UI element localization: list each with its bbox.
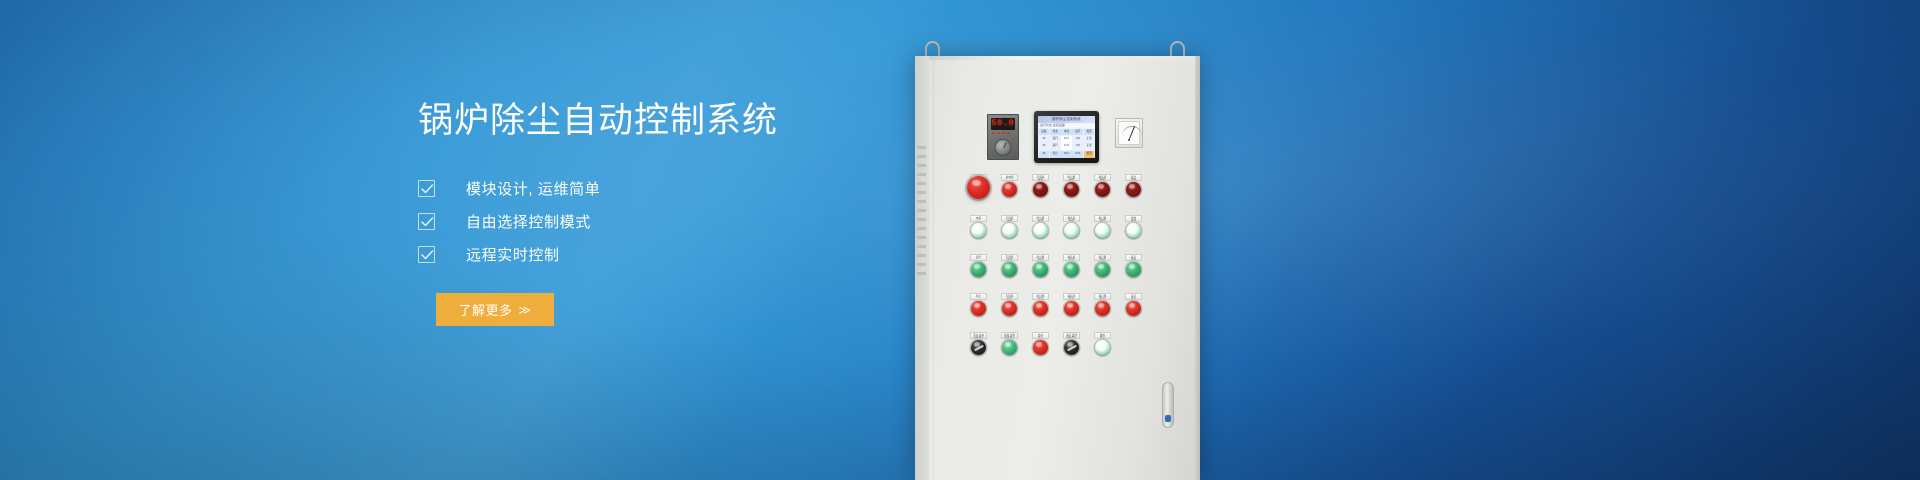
indicator-lamp-icon[interactable] (1033, 340, 1048, 355)
run-indicator[interactable]: 引风机 运行 (994, 254, 1025, 277)
list-item: 自由选择控制模式 (418, 205, 888, 238)
checkbox-checked-icon (418, 180, 435, 197)
button-label-plate: 手动 自动 转换开关 (970, 332, 987, 339)
power-indicator[interactable]: 振打器 电源 (1087, 215, 1118, 238)
fault-indicator: 引风机 故障 (1025, 174, 1056, 199)
run-indicator[interactable]: 清灰 运行 (1118, 254, 1149, 277)
cabinet-right-edge (1195, 56, 1200, 480)
feature-label: 远程实时控制 (466, 244, 560, 265)
button-label-plate: 启动 开关 (1032, 332, 1049, 339)
indicator-lamp-icon[interactable] (971, 223, 986, 238)
indicator-lamp-icon (1126, 182, 1141, 197)
checkbox-checked-icon (418, 213, 435, 230)
button-label-plate: 输灰机 运行 (1063, 254, 1080, 261)
table-cell: ON (1072, 136, 1083, 143)
vfd-drive-unit[interactable]: 50.0 (987, 114, 1019, 160)
button-label-plate: 振打器 停止 (1094, 293, 1111, 300)
button-grid: 急停 总电源 引风机 故障 除尘器 故障 (961, 174, 1193, 371)
rotary-selector-icon[interactable] (971, 340, 986, 355)
button-label-plate: 振打器 电源 (1094, 215, 1111, 222)
button-label-plate: 振打器 运行 (1094, 254, 1111, 261)
selector-switch[interactable]: 就地 远程 转换开关 (994, 332, 1025, 355)
button-label-plate: 输灰机 故障 (1094, 174, 1111, 181)
table-cell: 报警 (1084, 151, 1095, 158)
table-row: 1# 运行 12.4 ON 正常 (1039, 136, 1095, 143)
checkbox-checked-icon (418, 246, 435, 263)
indicator-lamp-icon (1095, 182, 1110, 197)
stop-button[interactable]: 振打器 停止 (1087, 293, 1118, 316)
main-power-button[interactable]: 总电源 (994, 174, 1025, 199)
indicator-lamp-icon[interactable] (1064, 301, 1079, 316)
table-row: 设备 状态 电流 运行 报警 (1039, 129, 1095, 136)
rotary-selector-icon[interactable] (1064, 340, 1079, 355)
emergency-stop-button[interactable]: 急停 (963, 174, 994, 199)
button-label-plate: 引风机 运行 (1001, 254, 1018, 261)
feature-label: 模块设计, 运维简单 (466, 178, 600, 199)
run-indicator[interactable]: 除尘器 运行 (1025, 254, 1056, 277)
estop-mushroom-icon[interactable] (967, 176, 990, 199)
list-item: 远程实时控制 (418, 238, 888, 271)
button-label-plate: 引风机 故障 (1032, 174, 1049, 181)
meter-face (1118, 121, 1140, 145)
feature-label: 自由选择控制模式 (466, 211, 591, 232)
banner-copy: 锅炉除尘自动控制系统 模块设计, 运维简单 自由选择控制模式 (418, 100, 888, 326)
fault-indicator: 除尘器 故障 (1056, 174, 1087, 199)
stop-button[interactable]: 清灰 停止 (1118, 293, 1149, 316)
power-indicator[interactable]: 电源 (963, 215, 994, 238)
stop-button[interactable]: 输灰机 停止 (1056, 293, 1087, 316)
hmi-touchscreen[interactable]: 锅炉除尘控制系统 运行状态 监控画面 设备 状态 电流 运行 报警 1# 运行 (1034, 111, 1099, 163)
power-indicator[interactable]: 控制 电源 (1118, 215, 1149, 238)
meter-pivot (1128, 139, 1130, 141)
power-indicator[interactable]: 输灰机 电源 (1056, 215, 1087, 238)
button-label-plate: 就地 远程 转换开关 (1001, 332, 1018, 339)
table-cell: 报警 (1084, 129, 1095, 136)
cabinet-top-edge (915, 56, 1200, 60)
selector-switch[interactable]: 备用 开关 (1087, 332, 1118, 355)
cabinet-door-handle[interactable] (1162, 382, 1174, 428)
indicator-lamp-icon[interactable] (1126, 301, 1141, 316)
indicator-lamp-icon[interactable] (1033, 301, 1048, 316)
indicator-lamp-icon[interactable] (1095, 301, 1110, 316)
table-cell: 1# (1039, 136, 1050, 143)
stop-button[interactable]: 引风机 停止 (994, 293, 1025, 316)
button-label-plate: 输灰机 停止 (1063, 293, 1080, 300)
table-cell: 2# (1039, 143, 1050, 150)
indicator-lamp-icon[interactable] (1002, 223, 1017, 238)
vfd-status-leds-icon (991, 132, 1015, 134)
indicator-lamp-icon[interactable] (1033, 262, 1048, 277)
stop-button[interactable]: 除尘器 停止 (1025, 293, 1056, 316)
table-cell: 12.4 (1061, 136, 1072, 143)
vfd-knob[interactable] (995, 139, 1012, 156)
button-label-plate: 总电源 (1001, 174, 1018, 181)
button-label-plate: 清灰 停止 (1125, 293, 1142, 300)
ventilation-slots-icon (917, 146, 926, 276)
indicator-lamp-icon[interactable] (1064, 223, 1079, 238)
indicator-lamp-icon[interactable] (1033, 223, 1048, 238)
indicator-lamp-icon[interactable] (1095, 262, 1110, 277)
table-cell: ON (1072, 143, 1083, 150)
button-label-plate: 除尘器 停止 (1032, 293, 1049, 300)
button-label-plate: 引风机 停止 (1001, 293, 1018, 300)
selector-switch[interactable]: 清灰 连续 转换开关 (1056, 332, 1087, 355)
table-row: 3# 停止 00.0 OFF 报警 (1039, 151, 1095, 158)
table-cell: 设备 (1039, 129, 1050, 136)
button-label-plate: 电源 (970, 215, 987, 222)
power-indicator[interactable]: 引风机 电源 (994, 215, 1025, 238)
indicator-lamp-icon[interactable] (971, 301, 986, 316)
button-label-plate: 除尘器 故障 (1063, 174, 1080, 181)
run-indicator[interactable]: 输灰机 运行 (1056, 254, 1087, 277)
button-label-plate: 除尘器 运行 (1032, 254, 1049, 261)
table-cell: 运行 (1050, 136, 1061, 143)
stop-button[interactable]: 停止 (963, 293, 994, 316)
indicator-lamp-icon[interactable] (1064, 262, 1079, 277)
emergency-and-alarm-row: 急停 总电源 引风机 故障 除尘器 故障 (961, 174, 1193, 199)
run-indicator-row: 运行 引风机 运行 除尘器 运行 输灰机 运行 (961, 254, 1193, 277)
page-title: 锅炉除尘自动控制系统 (418, 100, 888, 142)
vfd-digits: 50.0 (991, 120, 1014, 128)
indicator-lamp-icon[interactable] (1002, 182, 1017, 197)
chevron-right-icon: ≫ (518, 303, 531, 317)
table-cell: OFF (1072, 151, 1083, 158)
indicator-lamp-icon (1064, 182, 1079, 197)
table-cell: 运行 (1050, 143, 1061, 150)
hmi-title: 锅炉除尘控制系统 (1038, 116, 1095, 123)
hmi-screen: 锅炉除尘控制系统 运行状态 监控画面 设备 状态 电流 运行 报警 1# 运行 (1038, 116, 1095, 158)
selector-switch-row: 手动 自动 转换开关 就地 远程 转换开关 启动 开关 清灰 连续 转换开关 (961, 332, 1193, 355)
learn-more-button[interactable]: 了解更多 ≫ (436, 293, 554, 326)
button-label-plate: 清灰 连续 转换开关 (1063, 332, 1080, 339)
button-label-plate: 控制 电源 (1125, 215, 1142, 222)
selector-switch[interactable]: 启动 开关 (1025, 332, 1056, 355)
table-cell: 11.8 (1061, 143, 1072, 150)
table-cell: 正常 (1084, 143, 1095, 150)
run-indicator[interactable]: 运行 (963, 254, 994, 277)
table-cell: 运行 (1072, 129, 1083, 136)
selector-switch[interactable]: 手动 自动 转换开关 (963, 332, 994, 355)
indicator-lamp-icon[interactable] (1126, 262, 1141, 277)
cabinet-door-seam (933, 60, 934, 480)
indicator-lamp-icon[interactable] (1095, 340, 1110, 355)
button-label-plate: 输灰机 电源 (1063, 215, 1080, 222)
run-indicator[interactable]: 振打器 运行 (1087, 254, 1118, 277)
table-cell: 00.0 (1061, 151, 1072, 158)
button-label-plate: 停止 (970, 293, 987, 300)
button-label-plate: 运行 (970, 254, 987, 261)
power-indicator-row: 电源 引风机 电源 除尘器 电源 输灰机 电源 (961, 215, 1193, 238)
indicator-lamp-icon[interactable] (971, 262, 986, 277)
button-label-plate: 综合 报警 (1125, 174, 1142, 181)
table-cell: 状态 (1050, 129, 1061, 136)
indicator-lamp-icon[interactable] (1126, 223, 1141, 238)
fault-indicator: 综合 报警 (1118, 174, 1149, 199)
table-cell: 3# (1039, 151, 1050, 158)
learn-more-label: 了解更多 (458, 300, 512, 319)
list-item: 模块设计, 运维简单 (418, 172, 888, 205)
table-row: 2# 运行 11.8 ON 正常 (1039, 143, 1095, 150)
feature-list: 模块设计, 运维简单 自由选择控制模式 远程实时控制 (418, 172, 888, 271)
cabinet-body: 50.0 锅炉除尘控制系统 运行状态 监控画面 设备 状态 电流 (915, 56, 1200, 480)
table-cell: 正常 (1084, 136, 1095, 143)
button-label-plate: 除尘器 电源 (1032, 215, 1049, 222)
indicator-lamp-icon[interactable] (1095, 223, 1110, 238)
hero-banner: 锅炉除尘自动控制系统 模块设计, 运维简单 自由选择控制模式 (0, 0, 1920, 480)
table-cell: 电流 (1061, 129, 1072, 136)
fault-indicator: 输灰机 故障 (1087, 174, 1118, 199)
indicator-lamp-icon (1033, 182, 1048, 197)
table-cell: 停止 (1050, 151, 1061, 158)
indicator-lamp-icon[interactable] (1002, 301, 1017, 316)
button-label-plate: 备用 开关 (1094, 332, 1111, 339)
hmi-data-table: 设备 状态 电流 运行 报警 1# 运行 12.4 ON 正常 (1038, 128, 1095, 158)
indicator-lamp-icon[interactable] (1002, 262, 1017, 277)
analog-ammeter (1115, 118, 1143, 148)
vfd-display: 50.0 (991, 118, 1015, 130)
stop-button-row: 停止 引风机 停止 除尘器 停止 输灰机 停止 (961, 293, 1193, 316)
indicator-lamp-icon[interactable] (1002, 340, 1017, 355)
button-label-plate: 清灰 运行 (1125, 254, 1142, 261)
control-cabinet-image: 50.0 锅炉除尘控制系统 运行状态 监控画面 设备 状态 电流 (905, 40, 1215, 480)
power-indicator[interactable]: 除尘器 电源 (1025, 215, 1056, 238)
button-label-plate: 引风机 电源 (1001, 215, 1018, 222)
